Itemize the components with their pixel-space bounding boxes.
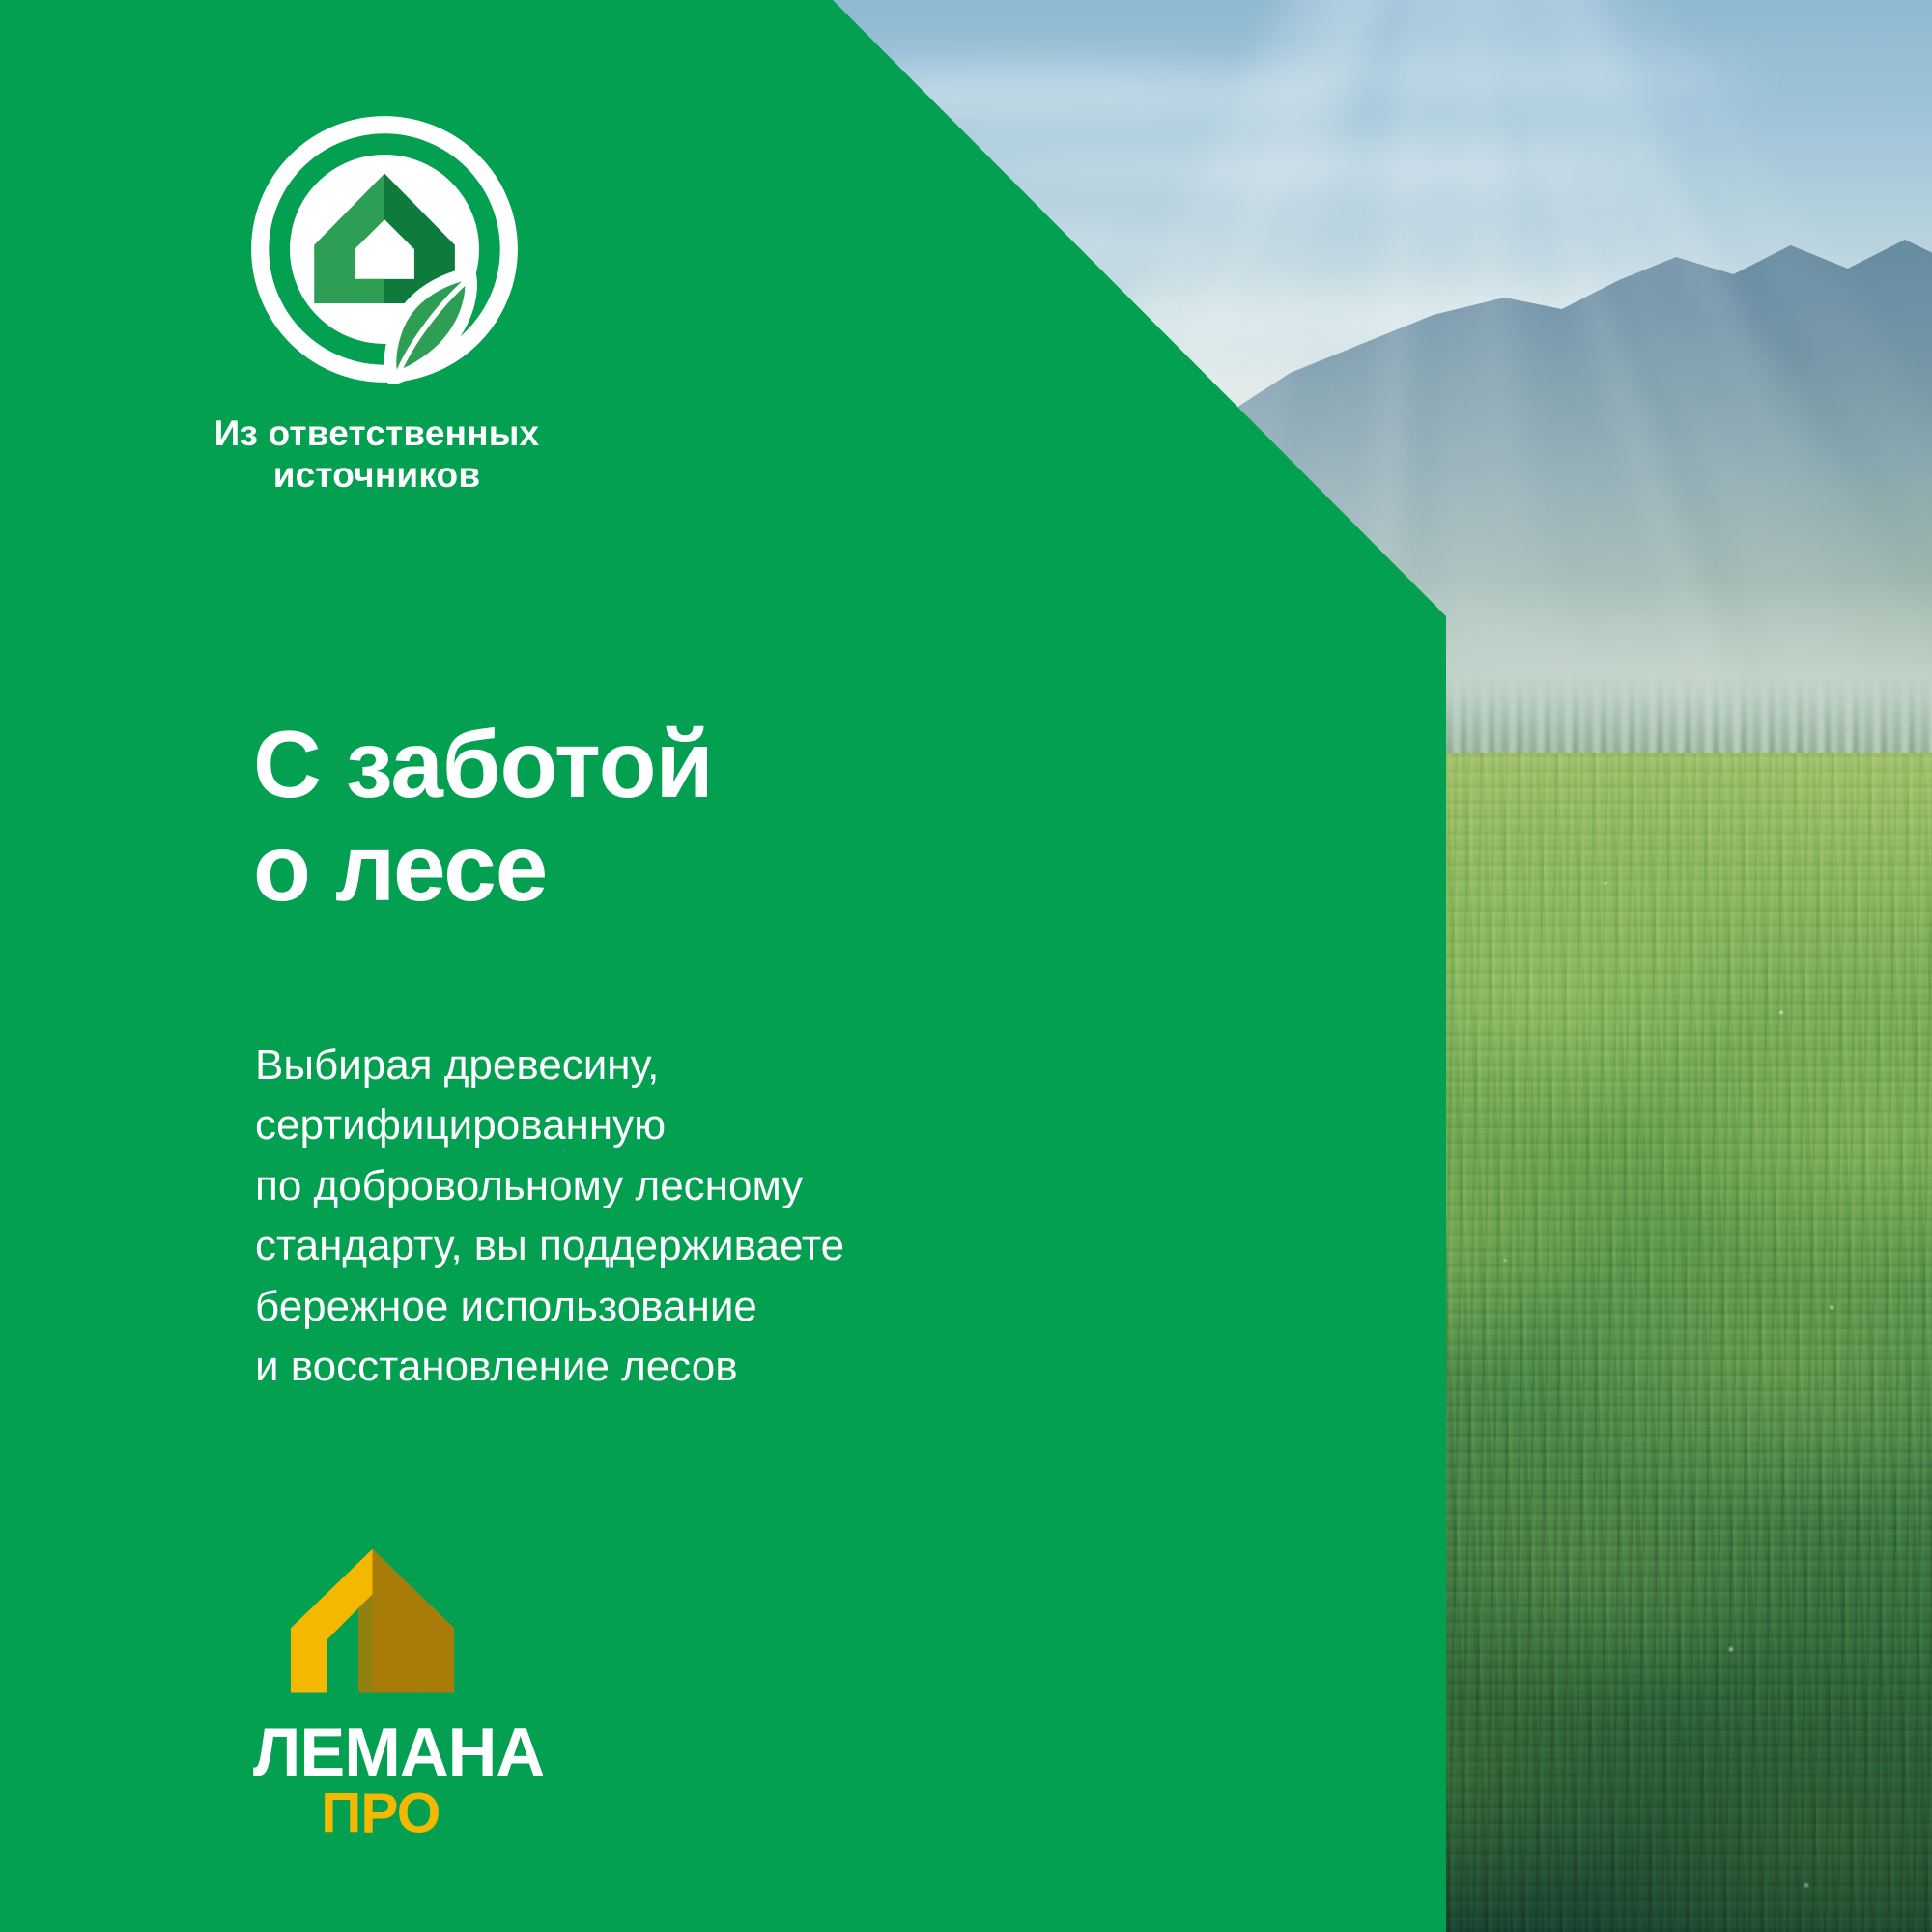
cloud-shape bbox=[918, 145, 1652, 187]
headline-line-2: о лесе bbox=[253, 816, 713, 921]
body-line-2: сертифицированную bbox=[255, 1095, 844, 1155]
house-leaf-circle-icon bbox=[249, 114, 520, 384]
brand-logo: ЛЕМАНА ПРО bbox=[253, 1546, 582, 1836]
eco-badge-caption-line-1: Из ответственных bbox=[193, 413, 560, 455]
bottom-strip bbox=[1446, 1918, 1932, 1932]
body-line-6: и восстановление лесов bbox=[255, 1337, 844, 1397]
brand-suffix-text: ПРО bbox=[321, 1782, 440, 1836]
eco-badge-caption: Из ответственных источников bbox=[193, 413, 560, 496]
page-title: С заботой о лесе bbox=[253, 713, 713, 922]
lemana-house-icon bbox=[288, 1546, 457, 1705]
poster-canvas: Из ответственных источников С заботой о … bbox=[0, 0, 1932, 1932]
body-line-3: по добровольному лесному bbox=[255, 1156, 844, 1216]
body-line-5: бережное использование bbox=[255, 1277, 844, 1337]
lemana-pro-wordmark: ЛЕМАНА ПРО bbox=[253, 1722, 574, 1836]
body-copy: Выбирая древесину, сертифицированную по … bbox=[255, 1036, 844, 1398]
brand-name-text: ЛЕМАНА bbox=[253, 1722, 544, 1790]
body-line-4: стандарту, вы поддерживаете bbox=[255, 1216, 844, 1276]
eco-badge-caption-line-2: источников bbox=[193, 455, 560, 497]
body-line-1: Выбирая древесину, bbox=[255, 1036, 844, 1095]
cloud-shape bbox=[1256, 58, 1758, 93]
headline-line-1: С заботой bbox=[253, 713, 713, 817]
